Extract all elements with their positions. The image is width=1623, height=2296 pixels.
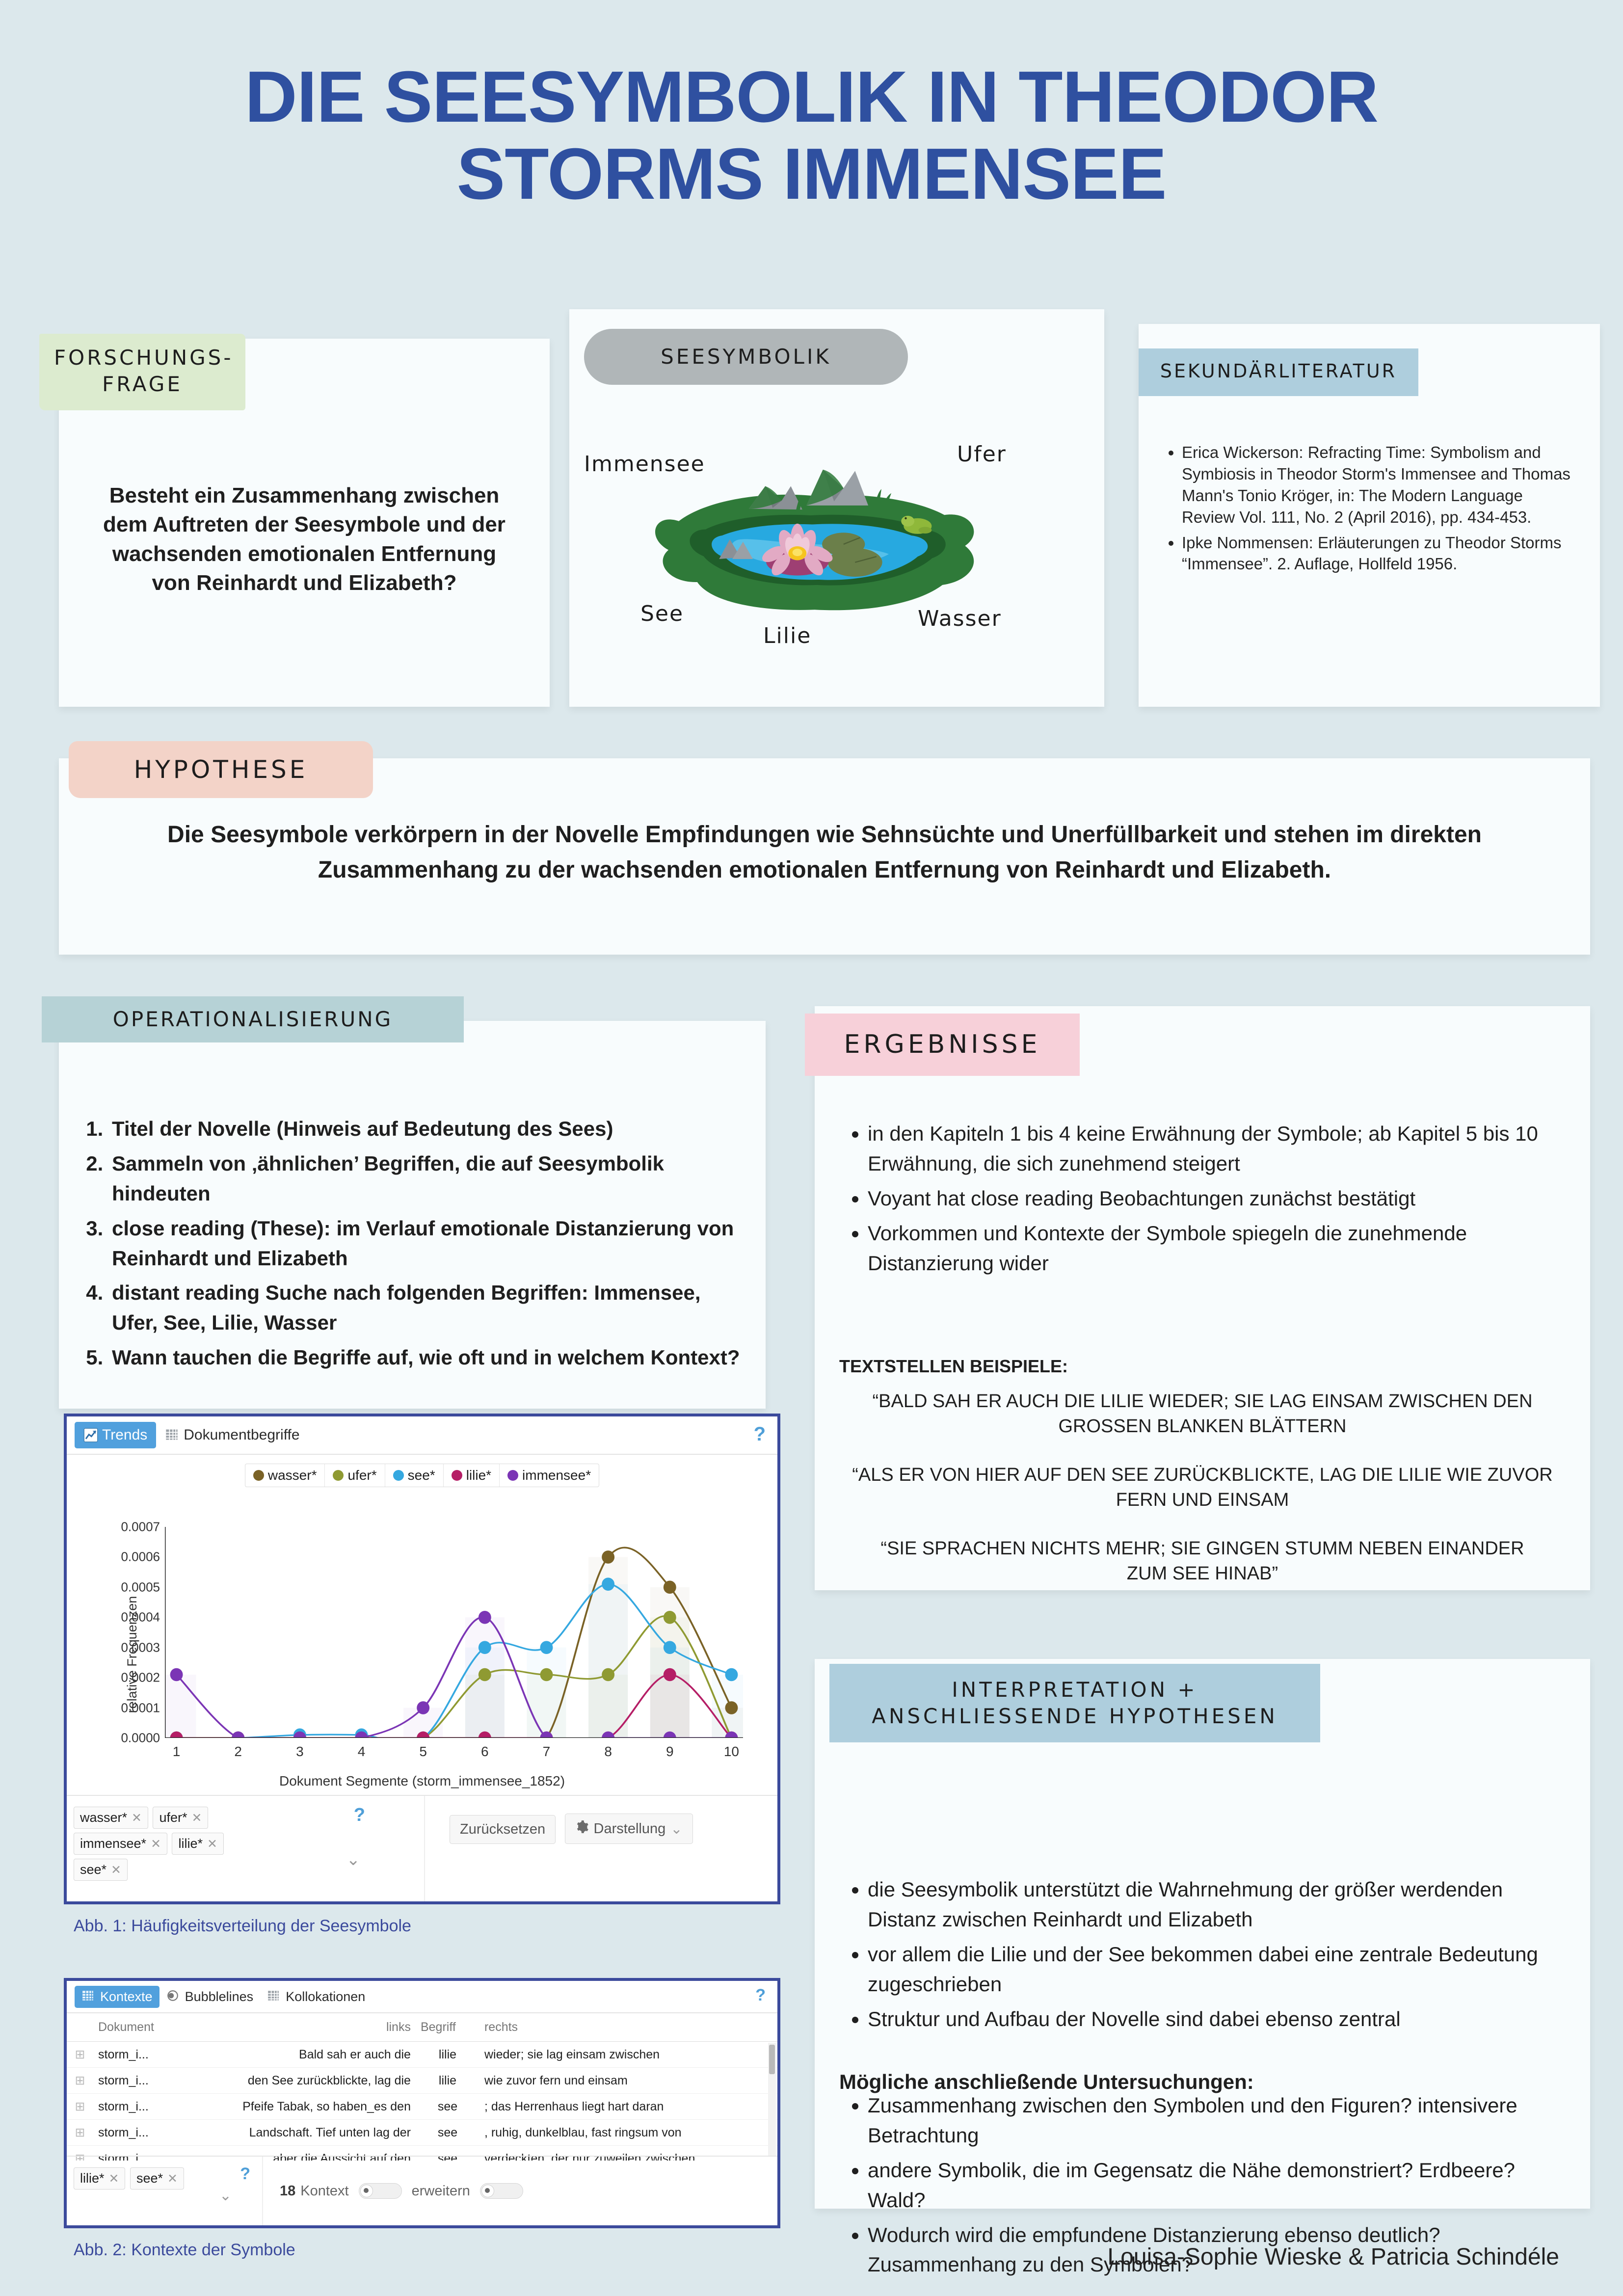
cell-dokument: storm_i... <box>93 2120 177 2146</box>
research-question-badge: FORSCHUNGS- FRAGE <box>39 334 245 410</box>
table-header-row: Dokument links Begriff rechts <box>67 2013 777 2042</box>
chevron-down-icon[interactable]: ⌄ <box>346 1850 361 1869</box>
cell-rechts: wie zuvor fern und einsam <box>479 2068 777 2094</box>
chip-see[interactable]: see* ✕ <box>130 2167 184 2189</box>
expand-column-header <box>67 2013 93 2042</box>
cell-dokument: storm_i... <box>93 2042 177 2068</box>
chip-label: see* <box>80 1862 106 1877</box>
sekundaerliteratur-list: Erica Wickerson: Refracting Time: Symbol… <box>1158 442 1575 579</box>
x-tick-label: 5 <box>419 1738 427 1760</box>
trends-chart-icon <box>83 1428 98 1442</box>
ergebnisse-list: in den Kapiteln 1 bis 4 keine Erwähnung … <box>839 1119 1561 1283</box>
hypothese-text: Die Seesymbole verkörpern in der Novelle… <box>147 817 1502 888</box>
list-item: close reading (These): im Verlauf emotio… <box>109 1214 746 1274</box>
list-item: Sammeln von ‚ähnlichen’ Begriffen, die a… <box>109 1149 746 1209</box>
y-tick-label: 0.0005 <box>121 1579 165 1595</box>
legend-item-see[interactable]: see* <box>385 1464 444 1487</box>
close-icon[interactable]: ✕ <box>109 2171 119 2186</box>
context-slider[interactable] <box>359 2183 402 2199</box>
table-row[interactable]: ⊞ storm_i... den See zurückblickte, lag … <box>67 2068 777 2094</box>
grid-table-icon <box>81 1989 96 2004</box>
legend-label: ufer* <box>347 1468 376 1483</box>
list-item: Titel der Novelle (Hinweis auf Bedeutung… <box>109 1114 746 1144</box>
chips-help-icon[interactable]: ? <box>354 1805 365 1826</box>
contexts-controls: lilie* ✕ see* ✕ ? ⌄ 18 Kontext erweitern <box>67 2156 777 2225</box>
cell-begriff: lilie <box>416 2042 479 2068</box>
chip-label: lilie* <box>80 2171 105 2186</box>
expand-row-icon[interactable]: ⊞ <box>67 2094 93 2120</box>
list-item: Zusammenhang zwischen den Symbolen und d… <box>868 2091 1551 2151</box>
column-header-begriff[interactable]: Begriff <box>416 2013 479 2042</box>
quote: “SIE SPRACHEN NICHTS MEHR; SIE GINGEN ST… <box>859 1536 1546 1587</box>
trends-action-buttons: Zurücksetzen Darstellung ⌄ <box>425 1796 777 1901</box>
chip-lilie[interactable]: lilie* ✕ <box>172 1833 223 1855</box>
legend-item-lilie[interactable]: lilie* <box>444 1464 500 1487</box>
quote: “BALD SAH ER AUCH DIE LILIE WIEDER; SIE … <box>834 1389 1570 1440</box>
x-tick-label: 6 <box>481 1738 489 1760</box>
legend-color-dot <box>507 1470 518 1481</box>
trends-chart[interactable]: relative Frequenzen 0.00000.00010.00020.… <box>67 1517 777 1792</box>
tab-kollokationen-label: Kollokationen <box>286 1989 365 2004</box>
y-tick-label: 0.0000 <box>121 1731 165 1746</box>
expand-row-icon[interactable]: ⊞ <box>67 2120 93 2146</box>
operationalisierung-list: Titel der Novelle (Hinweis auf Bedeutung… <box>74 1114 746 1378</box>
close-icon[interactable]: ✕ <box>151 1837 161 1851</box>
help-icon[interactable]: ? <box>755 1986 766 2005</box>
legend-item-ufer[interactable]: ufer* <box>325 1464 385 1487</box>
tab-dokumentbegriffe[interactable]: Dokumentbegriffe <box>156 1422 308 1448</box>
cell-links: den See zurückblickte, lag die <box>177 2068 416 2094</box>
close-icon[interactable]: ✕ <box>207 1837 217 1851</box>
cell-rechts: , ruhig, dunkelblau, fast ringsum von <box>479 2120 777 2146</box>
scrollbar-thumb[interactable] <box>769 2045 775 2074</box>
interpretation-badge: INTERPRETATION + ANSCHLIESSENDE HYPOTHES… <box>829 1664 1320 1742</box>
column-header-rechts[interactable]: rechts <box>479 2013 777 2042</box>
cell-begriff: lilie <box>416 2068 479 2094</box>
table-row[interactable]: ⊞ storm_i... Bald sah er auch die lilie … <box>67 2042 777 2068</box>
legend-item-immensee[interactable]: immensee* <box>500 1464 599 1487</box>
x-tick-label: 9 <box>666 1738 674 1760</box>
seesymbolik-badge: SEESYMBOLIK <box>584 329 908 385</box>
column-header-dokument[interactable]: Dokument <box>93 2013 177 2042</box>
contexts-table-wrap[interactable]: Dokument links Begriff rechts ⊞ storm_i.… <box>67 2013 777 2161</box>
x-tick-label: 7 <box>543 1738 551 1760</box>
chip-label: wasser* <box>80 1810 127 1825</box>
research-question-badge-line1: FORSCHUNGS- <box>54 346 234 370</box>
illu-label-ufer: Ufer <box>957 442 1007 467</box>
tab-bubblelines[interactable]: Bubblelines <box>160 1986 261 2008</box>
legend-color-dot <box>452 1470 462 1481</box>
tab-bubblelines-label: Bubblelines <box>185 1989 254 2004</box>
list-item: Erica Wickerson: Refracting Time: Symbol… <box>1182 442 1575 528</box>
cell-rechts: ; das Herrenhaus liegt hart daran <box>479 2094 777 2120</box>
chip-label: ufer* <box>159 1810 187 1825</box>
research-question-badge-line2: FRAGE <box>102 372 183 396</box>
close-icon[interactable]: ✕ <box>167 2171 178 2186</box>
tab-kollokationen[interactable]: Kollokationen <box>260 1986 372 2008</box>
legend-item-wasser[interactable]: wasser* <box>245 1464 325 1487</box>
chip-label: lilie* <box>178 1836 203 1851</box>
chip-lilie[interactable]: lilie* ✕ <box>74 2167 125 2189</box>
display-button[interactable]: Darstellung ⌄ <box>565 1814 693 1844</box>
close-icon[interactable]: ✕ <box>111 1863 121 1877</box>
list-item: Wann tauchen die Begriffe auf, wie oft u… <box>109 1343 746 1373</box>
legend-color-dot <box>393 1470 404 1481</box>
ergebnisse-card: in den Kapiteln 1 bis 4 keine Erwähnung … <box>815 1006 1590 1590</box>
textstellen-heading: TEXTSTELLEN BEISPIELE: <box>839 1356 1068 1377</box>
x-tick-label: 8 <box>604 1738 612 1760</box>
trends-controls: wasser* ✕ ufer* ✕ immensee* ✕ lilie* ✕ <box>67 1795 777 1901</box>
chip-label: immensee* <box>80 1836 146 1851</box>
context-label: Kontext <box>300 2183 348 2199</box>
chip-wasser[interactable]: wasser* ✕ <box>74 1807 148 1829</box>
tab-kontexte[interactable]: Kontexte <box>75 1986 160 2008</box>
chip-ufer[interactable]: ufer* ✕ <box>153 1807 208 1829</box>
y-tick-label: 0.0001 <box>121 1700 165 1715</box>
cell-dokument: storm_i... <box>93 2068 177 2094</box>
page-title-line2: STORMS IMMENSEE <box>0 136 1623 213</box>
research-question-text: Besteht ein Zusammenhang zwischen dem Au… <box>93 481 515 598</box>
chevron-down-icon: ⌄ <box>670 1820 682 1838</box>
expand-label: erweitern <box>412 2183 470 2199</box>
sekundaerliteratur-badge: SEKUNDÄRLITERATUR <box>1139 348 1418 396</box>
list-item: Voyant hat close reading Beobachtungen z… <box>868 1184 1561 1214</box>
grid-table-icon <box>267 1989 282 2004</box>
legend-label: see* <box>408 1468 435 1483</box>
grid-table-icon <box>165 1428 180 1442</box>
cell-begriff: see <box>416 2094 479 2120</box>
cell-links: Pfeife Tabak, so haben_es den <box>177 2094 416 2120</box>
cell-links: Landschaft. Tief unten lag der <box>177 2120 416 2146</box>
y-tick-label: 0.0003 <box>121 1640 165 1655</box>
chip-label: see* <box>136 2171 163 2186</box>
context-count: 18 <box>280 2183 295 2199</box>
x-tick-label: 3 <box>296 1738 304 1760</box>
legend-color-dot <box>253 1470 264 1481</box>
cell-begriff: see <box>416 2120 479 2146</box>
expand-row-icon[interactable]: ⊞ <box>67 2042 93 2068</box>
cell-dokument: storm_i... <box>93 2094 177 2120</box>
list-item: andere Symbolik, die im Gegensatz die Nä… <box>868 2156 1551 2216</box>
hypothese-badge: HYPOTHESE <box>69 741 373 798</box>
display-label: Darstellung <box>594 1821 666 1837</box>
y-tick-label: 0.0007 <box>121 1520 165 1535</box>
voyant-contexts-panel[interactable]: Kontexte Bubblelines Kollokationen ? <box>64 1978 780 2228</box>
y-tick-label: 0.0006 <box>121 1549 165 1565</box>
tab-trends[interactable]: Trends <box>75 1422 156 1448</box>
table-scrollbar[interactable] <box>768 2043 776 2156</box>
further-research-heading: Mögliche anschließende Untersuchungen: <box>839 2070 1254 2094</box>
table-row[interactable]: ⊞ storm_i... Pfeife Tabak, so haben_es d… <box>67 2094 777 2120</box>
chips-help-icon[interactable]: ? <box>240 2164 250 2184</box>
bubble-icon <box>166 1989 181 2004</box>
list-item: distant reading Suche nach folgenden Beg… <box>109 1278 746 1338</box>
contexts-table: Dokument links Begriff rechts ⊞ storm_i.… <box>67 2013 777 2161</box>
legend-label: wasser* <box>268 1468 317 1483</box>
contexts-slider-area: 18 Kontext erweitern <box>263 2183 777 2199</box>
list-item: Vorkommen und Kontexte der Symbole spieg… <box>868 1219 1561 1279</box>
contexts-table-body: ⊞ storm_i... Bald sah er auch die lilie … <box>67 2042 777 2161</box>
x-tick-label: 4 <box>358 1738 366 1760</box>
figure-caption-1: Abb. 1: Häufigkeitsverteilung der Seesym… <box>74 1917 411 1936</box>
cell-rechts: wieder; sie lag einsam zwischen <box>479 2042 777 2068</box>
voyant-trends-panel[interactable]: Trends Dokumentbegriffe ? wasser* ufer* <box>64 1414 780 1904</box>
chevron-down-icon[interactable]: ⌄ <box>219 2187 232 2204</box>
authors: Louisa-Sophie Wieske & Patricia Schindél… <box>1108 2243 1559 2270</box>
trends-toolbar: Trends Dokumentbegriffe ? <box>67 1416 777 1455</box>
list-item: in den Kapiteln 1 bis 4 keine Erwähnung … <box>868 1119 1561 1179</box>
x-axis-label: Dokument Segmente (storm_immensee_1852) <box>67 1773 777 1789</box>
expand-slider[interactable] <box>480 2183 523 2199</box>
tab-kontexte-label: Kontexte <box>100 1989 153 2004</box>
interpretation-list: die Seesymbolik unterstützt die Wahrnehm… <box>839 1875 1561 2039</box>
close-icon[interactable]: ✕ <box>191 1811 202 1825</box>
expand-row-icon[interactable]: ⊞ <box>67 2068 93 2094</box>
tab-dokumentbegriffe-label: Dokumentbegriffe <box>184 1427 299 1443</box>
chip-see[interactable]: see* ✕ <box>74 1859 128 1881</box>
x-tick-label: 1 <box>173 1738 181 1760</box>
chart-svg <box>165 1527 743 1738</box>
x-tick-label: 10 <box>724 1738 739 1760</box>
quote: “ALS ER VON HIER AUF DEN SEE ZURÜCKBLICK… <box>834 1463 1570 1513</box>
legend-label: immensee* <box>522 1468 591 1483</box>
help-icon[interactable]: ? <box>754 1423 766 1445</box>
illu-label-immensee: Immensee <box>584 452 705 477</box>
list-item: vor allem die Lilie und der See bekommen… <box>868 1940 1561 2000</box>
y-tick-label: 0.0002 <box>121 1670 165 1685</box>
operationalisierung-badge: OPERATIONALISIERUNG <box>42 996 464 1042</box>
poster-root: DIE SEESYMBOLIK IN THEODOR STORMS IMMENS… <box>0 0 1623 2296</box>
reset-label: Zurücksetzen <box>460 1821 545 1838</box>
interpretation-badge-line1: INTERPRETATION + <box>952 1678 1197 1702</box>
gear-icon <box>575 1820 589 1838</box>
contexts-chips-area[interactable]: lilie* ✕ see* ✕ ? ⌄ <box>67 2157 263 2225</box>
list-item: Struktur und Aufbau der Novelle sind dab… <box>868 2004 1561 2034</box>
lake-illustration <box>628 398 1001 628</box>
interpretation-badge-line2: ANSCHLIESSENDE HYPOTHESEN <box>872 1704 1278 1728</box>
tab-trends-label: Trends <box>102 1427 147 1443</box>
contexts-toolbar: Kontexte Bubblelines Kollokationen ? <box>67 1981 777 2013</box>
page-title: DIE SEESYMBOLIK IN THEODOR STORMS IMMENS… <box>0 59 1623 213</box>
illu-label-see: See <box>640 601 684 626</box>
list-item: die Seesymbolik unterstützt die Wahrnehm… <box>868 1875 1561 1935</box>
chart-legend[interactable]: wasser* ufer* see* lilie* immensee* <box>245 1464 599 1487</box>
chip-immensee[interactable]: immensee* ✕ <box>74 1833 167 1855</box>
y-tick-label: 0.0004 <box>121 1610 165 1625</box>
illu-label-lilie: Lilie <box>763 623 811 648</box>
illu-label-wasser: Wasser <box>918 606 1002 631</box>
reset-button[interactable]: Zurücksetzen <box>450 1815 556 1844</box>
list-item: Ipke Nommensen: Erläuterungen zu Theodor… <box>1182 532 1575 575</box>
legend-color-dot <box>333 1470 344 1481</box>
plot-area: 0.00000.00010.00020.00030.00040.00050.00… <box>165 1527 743 1738</box>
cell-links: Bald sah er auch die <box>177 2042 416 2068</box>
page-title-line1: DIE SEESYMBOLIK IN THEODOR <box>0 59 1623 136</box>
column-header-links[interactable]: links <box>177 2013 416 2042</box>
ergebnisse-badge: ERGEBNISSE <box>805 1014 1080 1076</box>
term-chips-area[interactable]: wasser* ✕ ufer* ✕ immensee* ✕ lilie* ✕ <box>67 1796 425 1901</box>
figure-caption-2: Abb. 2: Kontexte der Symbole <box>74 2241 295 2260</box>
x-tick-label: 2 <box>234 1738 242 1760</box>
table-row[interactable]: ⊞ storm_i... Landschaft. Tief unten lag … <box>67 2120 777 2146</box>
operationalisierung-card: Titel der Novelle (Hinweis auf Bedeutung… <box>59 1021 766 1409</box>
legend-label: lilie* <box>466 1468 491 1483</box>
close-icon[interactable]: ✕ <box>132 1811 142 1825</box>
